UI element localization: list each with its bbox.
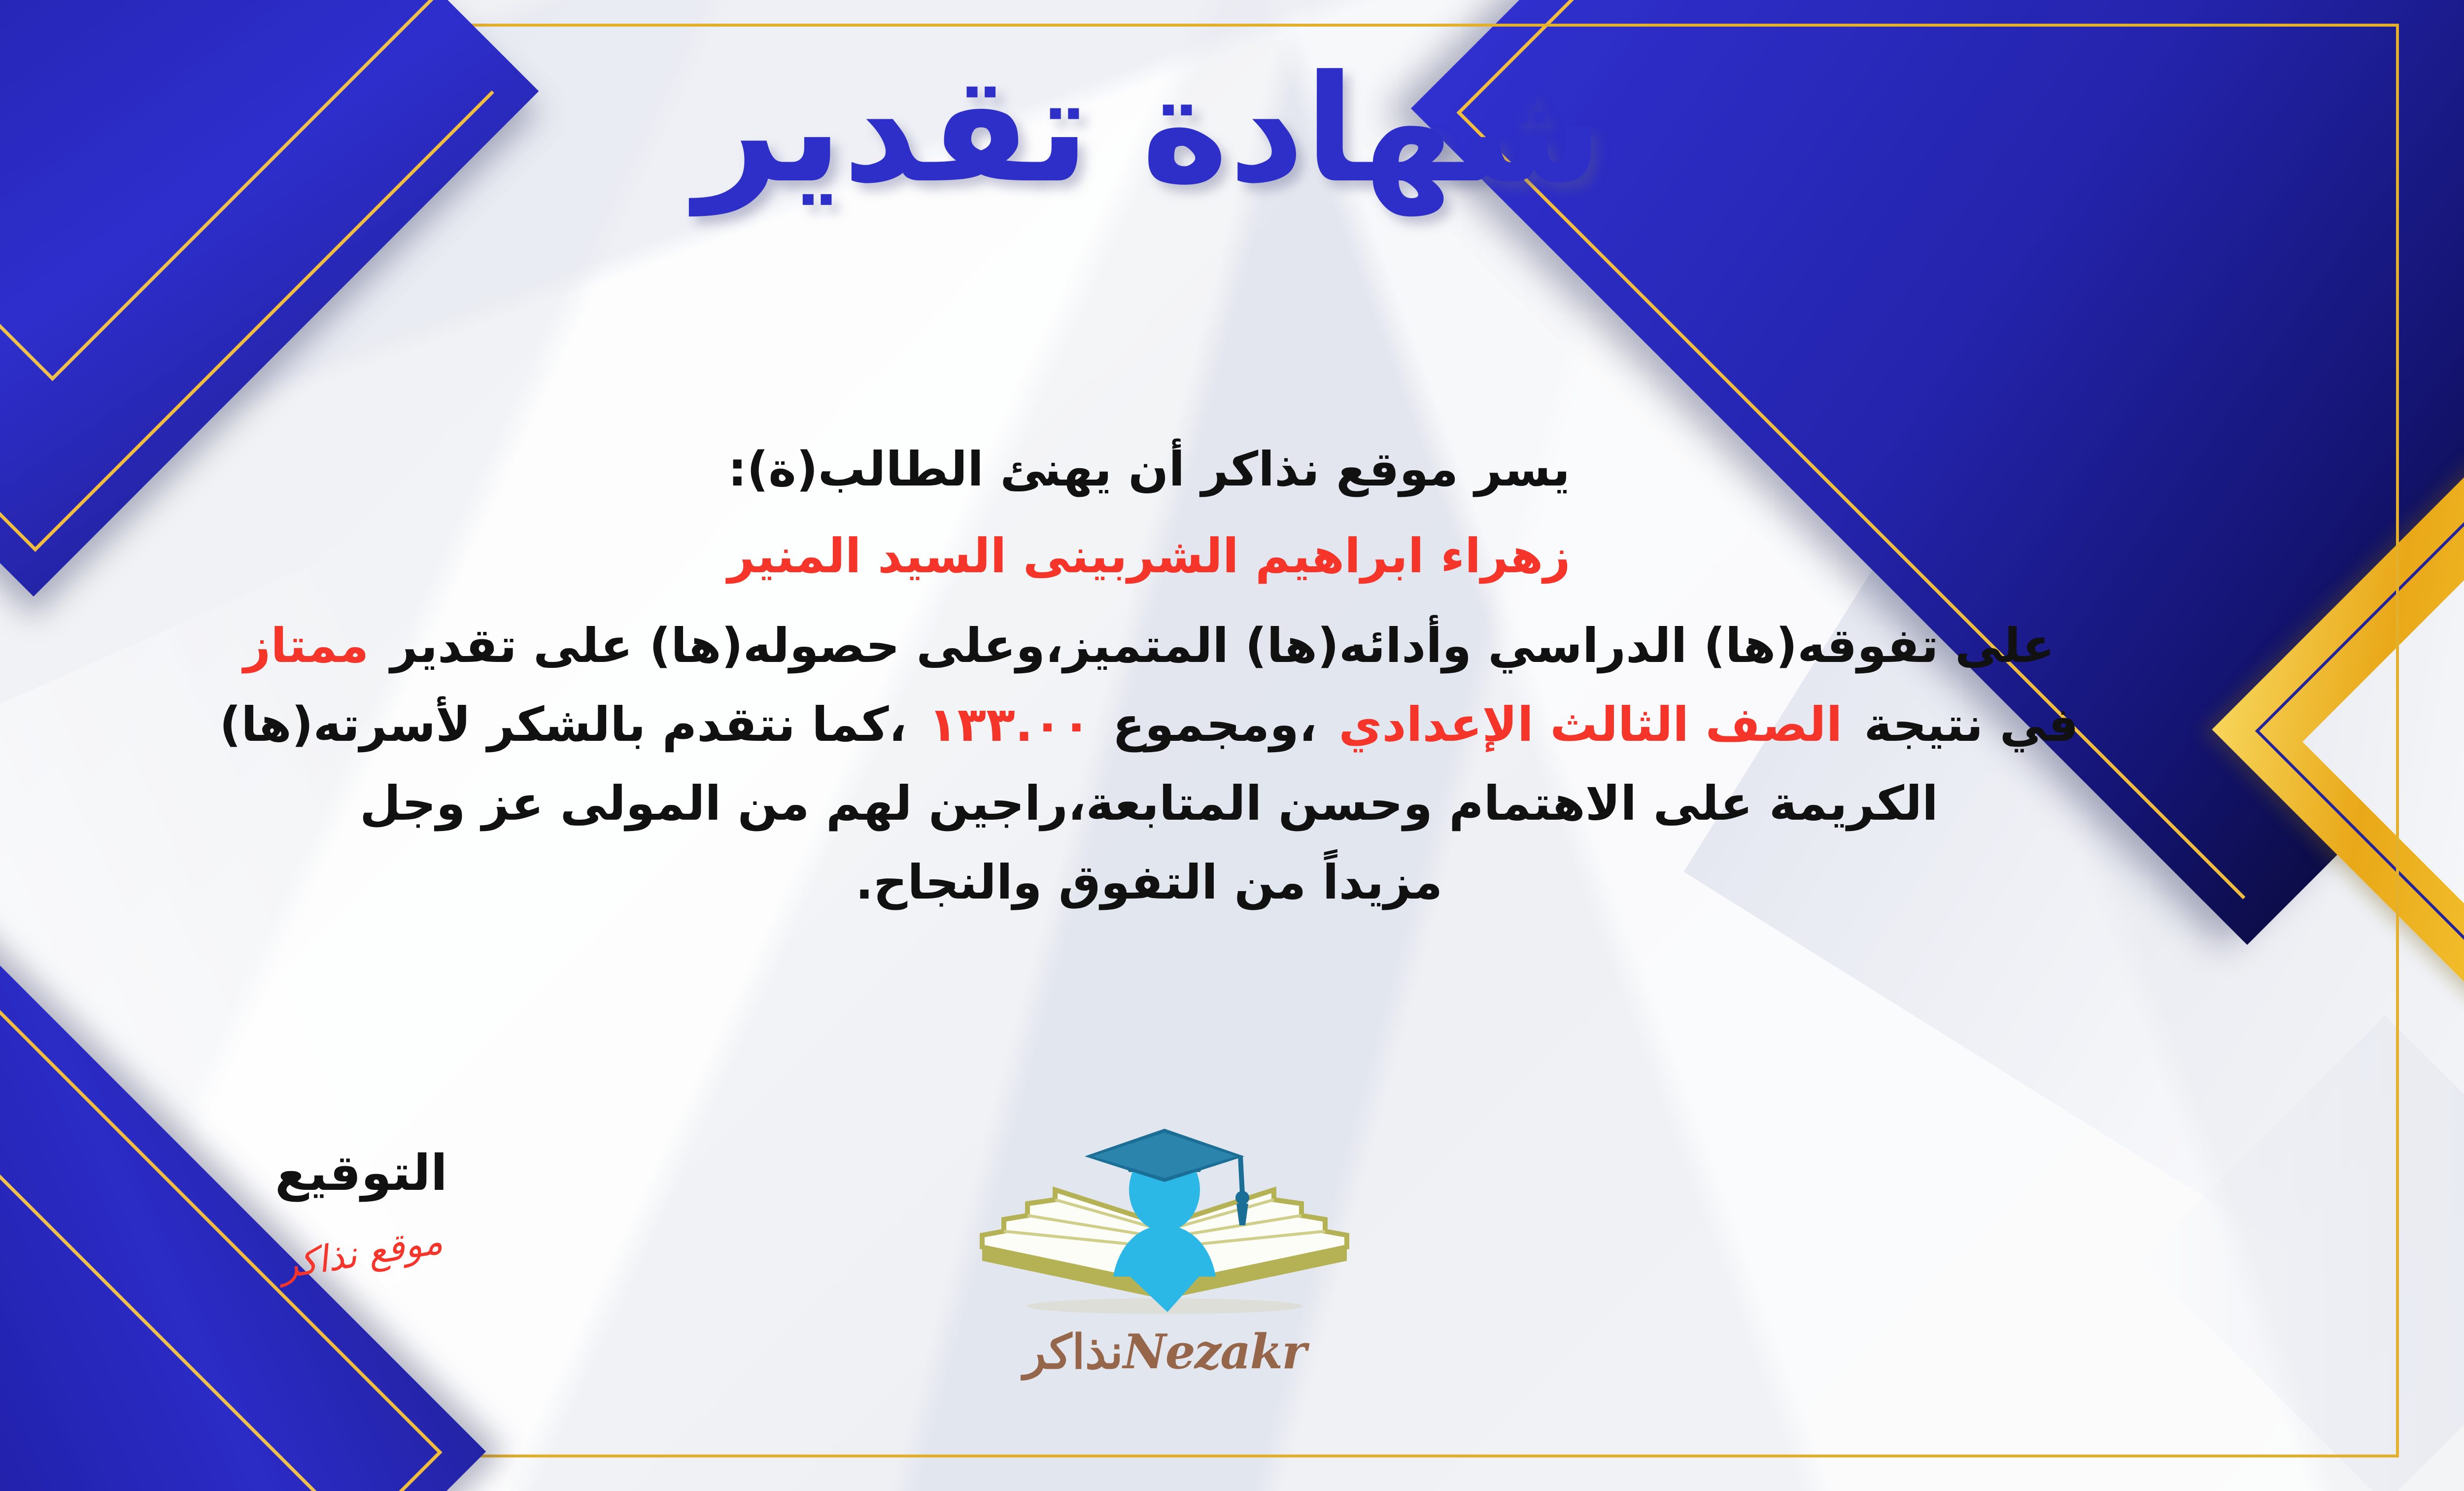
closing-text: مزيداً من التفوق والنجاح.	[856, 855, 1443, 910]
logo-wordmark: Nezakrنذاكر	[953, 1324, 1376, 1380]
site-logo: Nezakrنذاكر	[953, 1129, 1376, 1380]
intro-text: يسر موقع نذاكر أن يهنئ الطالب(ة):	[728, 442, 1570, 497]
family-thanks-line: الكريمة على الاهتمام وحسن المتابعة،راجين…	[0, 768, 2316, 840]
graduate-open-book-icon	[953, 1129, 1376, 1326]
certificate-title: شهادة تقدير	[0, 30, 2464, 229]
total-word: ،ومجموع	[1112, 697, 1317, 752]
family-thanks-text: الكريمة على الاهتمام وحسن المتابعة،راجين…	[360, 776, 1938, 831]
certificate-page: شهادة تقدير يسر موقع نذاكر أن يهنئ الطال…	[0, 0, 2464, 1491]
achievement-text: على تفوقه(ها) الدراسي وأدائه(ها) المتميز…	[390, 618, 2054, 673]
thanks-text: ،كما نتقدم بالشكر لأسرته(ها)	[219, 697, 907, 752]
grade-label: ممتاز	[243, 618, 369, 673]
intro-line: يسر موقع نذاكر أن يهنئ الطالب(ة):	[0, 434, 2316, 506]
closing-line: مزيداً من التفوق والنجاح.	[0, 847, 2316, 919]
logo-arabic-text: نذاكر	[1023, 1324, 1123, 1380]
signature-block: التوقيع موقع نذاكر	[208, 1148, 514, 1275]
certificate-content: شهادة تقدير يسر موقع نذاكر أن يهنئ الطال…	[0, 0, 2464, 1491]
stage-score-line: في نتيجةالصف الثالث الإعدادي،ومجموع١٣٣.٠…	[0, 689, 2316, 761]
student-name: زهراء ابراهيم الشربينى السيد المنير	[0, 520, 2316, 592]
signature-script: موقع نذاكر	[277, 1220, 445, 1287]
signature-label: التوقيع	[208, 1148, 514, 1198]
in-result-text: في نتيجة	[1864, 697, 2078, 752]
logo-latin-text: Nezakr	[1123, 1324, 1306, 1380]
total-score: ١٣٣.٠٠	[928, 697, 1091, 752]
certificate-body: يسر موقع نذاكر أن يهنئ الطالب(ة): زهراء …	[0, 434, 2316, 925]
student-name-text: زهراء ابراهيم الشربينى السيد المنير	[727, 528, 1570, 584]
achievement-line: على تفوقه(ها) الدراسي وأدائه(ها) المتميز…	[0, 610, 2316, 682]
stage-label: الصف الثالث الإعدادي	[1338, 697, 1842, 752]
